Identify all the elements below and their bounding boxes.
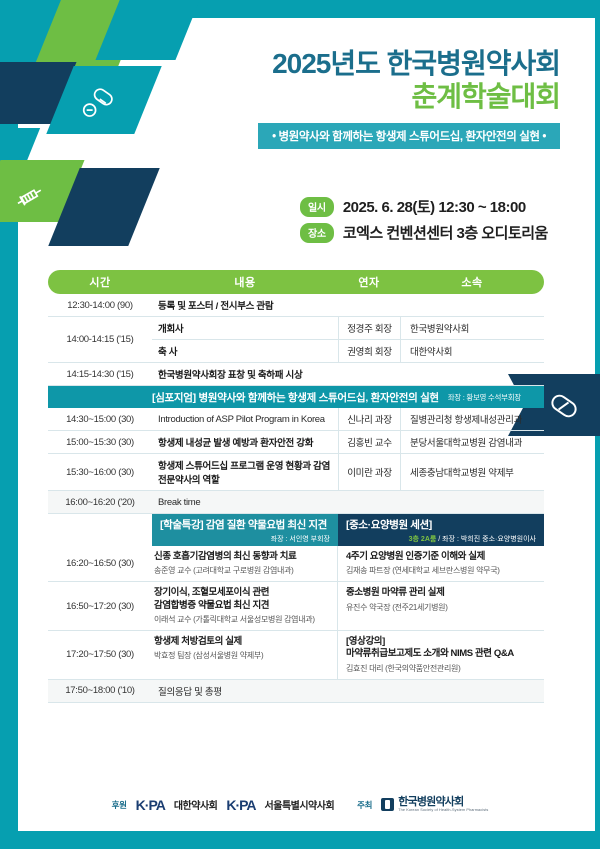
cell-time: 15:30~16:00 (30) [48, 454, 152, 490]
table-header-row: 시간 내용 연자 소속 [48, 270, 544, 294]
session-right-title: [영상강의]마약류취급보고제도 소개와 NIMS 관련 Q&A [346, 636, 536, 661]
table-row: 14:15-14:30 ('15)한국병원약사회장 표창 및 축하패 시상 [48, 363, 544, 386]
cell-speaker: 이미란 과장 [338, 454, 400, 490]
cell-content: Break time [152, 491, 544, 513]
khspa-logo: 한국병원약사회 The Korean Society of Health-Sys… [381, 797, 488, 813]
session-left-title: 장기이식, 조혈모세포이식 관련감염합병증 약물요법 최신 지견 [154, 587, 329, 612]
table-row: 12:30-14:00 (90)등록 및 포스터 / 전시부스 관람 [48, 294, 544, 317]
session-right-title: 4주기 요양병원 인증기준 이해와 실제 [346, 551, 536, 563]
subrow-stack: 개회사정경주 회장한국병원약사회축 사권영희 회장대한약사회 [152, 317, 544, 362]
cell-session-right: 중소병원 마약류 관리 실제유진수 약국장 (전주21세기병원) [338, 582, 544, 630]
banner-right-chair: 3층 2A룸 / 좌장 : 박희진 중소·요양병원이사 [346, 534, 536, 544]
sponsor-name-2: 서울특별시약사회 [265, 797, 335, 812]
cell-session-right: [영상강의]마약류취급보고제도 소개와 NIMS 관련 Q&A김효진 대리 (한… [338, 631, 544, 679]
badge-date: 일시 [300, 197, 334, 217]
cell-content: 한국병원약사회장 표창 및 축하패 시상 [152, 363, 544, 385]
session-left-speaker: 박효정 팀장 (삼성서울병원 약제부) [154, 650, 329, 661]
session-right-speaker: 유진수 약국장 (전주21세기병원) [346, 602, 536, 613]
session-left-speaker: 송준영 교수 (고려대학교 구로병원 감염내과) [154, 565, 329, 576]
dual-session-banner: [학술특강] 감염 질환 약물요법 최신 지견좌장 : 서인영 부회장[중소·요… [48, 514, 544, 546]
cell-org: 한국병원약사회 [400, 317, 544, 339]
session-right-speaker: 김효진 대리 (한국의약품안전관리원) [346, 663, 536, 674]
table-row: 14:30~15:00 (30)Introduction of ASP Pilo… [48, 408, 544, 431]
info-row-venue: 장소 코엑스 컨벤션센터 3층 오디토리움 [300, 222, 570, 243]
table-row-group: 14:00-14:15 ('15)개회사정경주 회장한국병원약사회축 사권영희 … [48, 317, 544, 363]
banner-left-chair: 좌장 : 서인영 부회장 [160, 534, 330, 544]
event-info: 일시 2025. 6. 28(토) 12:30 ~ 18:00 장소 코엑스 컨… [300, 196, 570, 248]
table-subrow: 축 사권영희 회장대한약사회 [152, 339, 544, 362]
poster-root: 2025년도 한국병원약사회 춘계학술대회 • 병원약사와 함께하는 항생제 스… [0, 0, 600, 849]
cell-content: 개회사 [152, 317, 338, 339]
cell-session-left: 장기이식, 조혈모세포이식 관련감염합병증 약물요법 최신 지견이래석 교수 (… [152, 582, 338, 630]
host-name-en: The Korean Society of Health-System Phar… [398, 809, 488, 813]
banner-right: [중소·요양병원 세션]3층 2A룸 / 좌장 : 박희진 중소·요양병원이사 [338, 514, 544, 546]
info-row-date: 일시 2025. 6. 28(토) 12:30 ~ 18:00 [300, 196, 570, 217]
subtitle: • 병원약사와 함께하는 항생제 스튜어드십, 환자안전의 실현 • [258, 123, 560, 149]
cell-org: 대한약사회 [400, 340, 544, 362]
cell-session-left: 항생제 처방검토의 실제박효정 팀장 (삼성서울병원 약제부) [152, 631, 338, 679]
cell-time: 12:30-14:00 (90) [48, 294, 152, 316]
session-left-speaker: 이래석 교수 (가톨릭대학교 서울성모병원 감염내과) [154, 614, 329, 625]
kpa-logo-2: K·PA [226, 797, 255, 813]
session-banner-chair: 좌장 : 황보영 수석부회장 [448, 392, 521, 403]
cell-org: 질병관리청 항생제내성관리과 [400, 408, 544, 430]
pill-icon [82, 88, 116, 122]
khspa-mark-icon [381, 798, 394, 811]
cell-speaker: 정경주 회장 [338, 317, 400, 339]
session-right-title: 중소병원 마약류 관리 실제 [346, 587, 536, 599]
session-left-title: 항생제 처방검토의 실제 [154, 636, 329, 648]
cell-org: 세종충남대학교병원 약제부 [400, 454, 544, 490]
table-row-dual: 16:20~16:50 (30)신종 호흡기감염병의 최신 동향과 치료송준영 … [48, 546, 544, 582]
cell-session-right: 4주기 요양병원 인증기준 이해와 실제김재송 파트장 (연세대학교 세브란스병… [338, 546, 544, 581]
cell-content: 항생제 내성균 발생 예방과 환자안전 강화 [152, 431, 338, 453]
host-label: 주최 [357, 799, 372, 811]
table-body: 12:30-14:00 (90)등록 및 포스터 / 전시부스 관람14:00-… [48, 294, 544, 703]
cell-speaker: 김홍빈 교수 [338, 431, 400, 453]
table-row-dual: 17:20~17:50 (30)항생제 처방검토의 실제박효정 팀장 (삼성서울… [48, 631, 544, 680]
cell-content: 항생제 스튜어드십 프로그램 운영 현황과 감염전문약사의 역할 [152, 454, 338, 490]
cell-time: 16:20~16:50 (30) [48, 546, 152, 581]
banner-left: [학술특강] 감염 질환 약물요법 최신 지견좌장 : 서인영 부회장 [152, 514, 338, 546]
session-left-title: 신종 호흡기감염병의 최신 동향과 치료 [154, 551, 329, 563]
column-header-content: 내용 [152, 274, 338, 290]
column-header-speaker: 연자 [338, 274, 400, 290]
session-right-speaker: 김재송 파트장 (연세대학교 세브란스병원 약무국) [346, 565, 536, 576]
session-banner-title: [심포지엄] 병원약사와 함께하는 항생제 스튜어드십, 환자안전의 실현 [152, 390, 439, 405]
table-row: 15:00~15:30 (30)항생제 내성균 발생 예방과 환자안전 강화김홍… [48, 431, 544, 454]
cell-time: 16:00~16:20 ('20) [48, 491, 152, 513]
frame-bottom-bar [0, 831, 600, 849]
event-date-value: 2025. 6. 28(토) 12:30 ~ 18:00 [343, 196, 526, 217]
cell-time: 15:00~15:30 (30) [48, 431, 152, 453]
program-table: 시간 내용 연자 소속 12:30-14:00 (90)등록 및 포스터 / 전… [48, 270, 544, 703]
table-row: 15:30~16:00 (30)항생제 스튜어드십 프로그램 운영 현황과 감염… [48, 454, 544, 491]
column-header-time: 시간 [48, 274, 152, 290]
cell-speaker: 권영희 회장 [338, 340, 400, 362]
sponsor-footer: 후원 K·PA 대한약사회 K·PA 서울특별시약사회 주최 한국병원약사회 T… [0, 797, 600, 813]
cell-content: Introduction of ASP Pilot Program in Kor… [152, 408, 338, 430]
host-name: 한국병원약사회 [398, 797, 488, 808]
title-block: 2025년도 한국병원약사회 춘계학술대회 • 병원약사와 함께하는 항생제 스… [160, 48, 560, 149]
badge-venue: 장소 [300, 223, 334, 243]
cell-time: 14:15-14:30 ('15) [48, 363, 152, 385]
table-row-dual: 16:50~17:20 (30)장기이식, 조혈모세포이식 관련감염합병증 약물… [48, 582, 544, 631]
pill-icon [546, 388, 582, 424]
banner-spacer [48, 514, 152, 546]
table-subrow: 개회사정경주 회장한국병원약사회 [152, 317, 544, 339]
page-title-line1: 2025년도 한국병원약사회 [160, 48, 560, 79]
sponsor-name-1: 대한약사회 [174, 797, 218, 812]
cell-content: 질의응답 및 총평 [152, 680, 544, 702]
cell-speaker: 신나리 과장 [338, 408, 400, 430]
column-header-org: 소속 [400, 274, 544, 290]
cell-time: 16:50~17:20 (30) [48, 582, 152, 630]
cell-time: 14:00-14:15 ('15) [48, 317, 152, 362]
event-venue-value: 코엑스 컨벤션센터 3층 오디토리움 [343, 222, 548, 243]
session-banner: [심포지엄] 병원약사와 함께하는 항생제 스튜어드십, 환자안전의 실현좌장 … [48, 386, 544, 408]
cell-content: 축 사 [152, 340, 338, 362]
cell-time: 17:20~17:50 (30) [48, 631, 152, 679]
table-row: 16:00~16:20 ('20)Break time [48, 491, 544, 514]
khspa-text: 한국병원약사회 The Korean Society of Health-Sys… [398, 797, 488, 813]
cell-time: 14:30~15:00 (30) [48, 408, 152, 430]
kpa-logo-1: K·PA [136, 797, 165, 813]
banner-left-title: [학술특강] 감염 질환 약물요법 최신 지견 [160, 517, 330, 532]
banner-right-title: [중소·요양병원 세션] [346, 517, 536, 532]
cell-content: 등록 및 포스터 / 전시부스 관람 [152, 294, 544, 316]
page-title-line2: 춘계학술대회 [160, 81, 560, 112]
table-row: 17:50~18:00 ('10)질의응답 및 총평 [48, 680, 544, 703]
sponsor-label: 후원 [112, 799, 127, 811]
syringe-icon [12, 180, 46, 214]
cell-time: 17:50~18:00 ('10) [48, 680, 152, 702]
cell-session-left: 신종 호흡기감염병의 최신 동향과 치료송준영 교수 (고려대학교 구로병원 감… [152, 546, 338, 581]
cell-org: 분당서울대학교병원 감염내과 [400, 431, 544, 453]
